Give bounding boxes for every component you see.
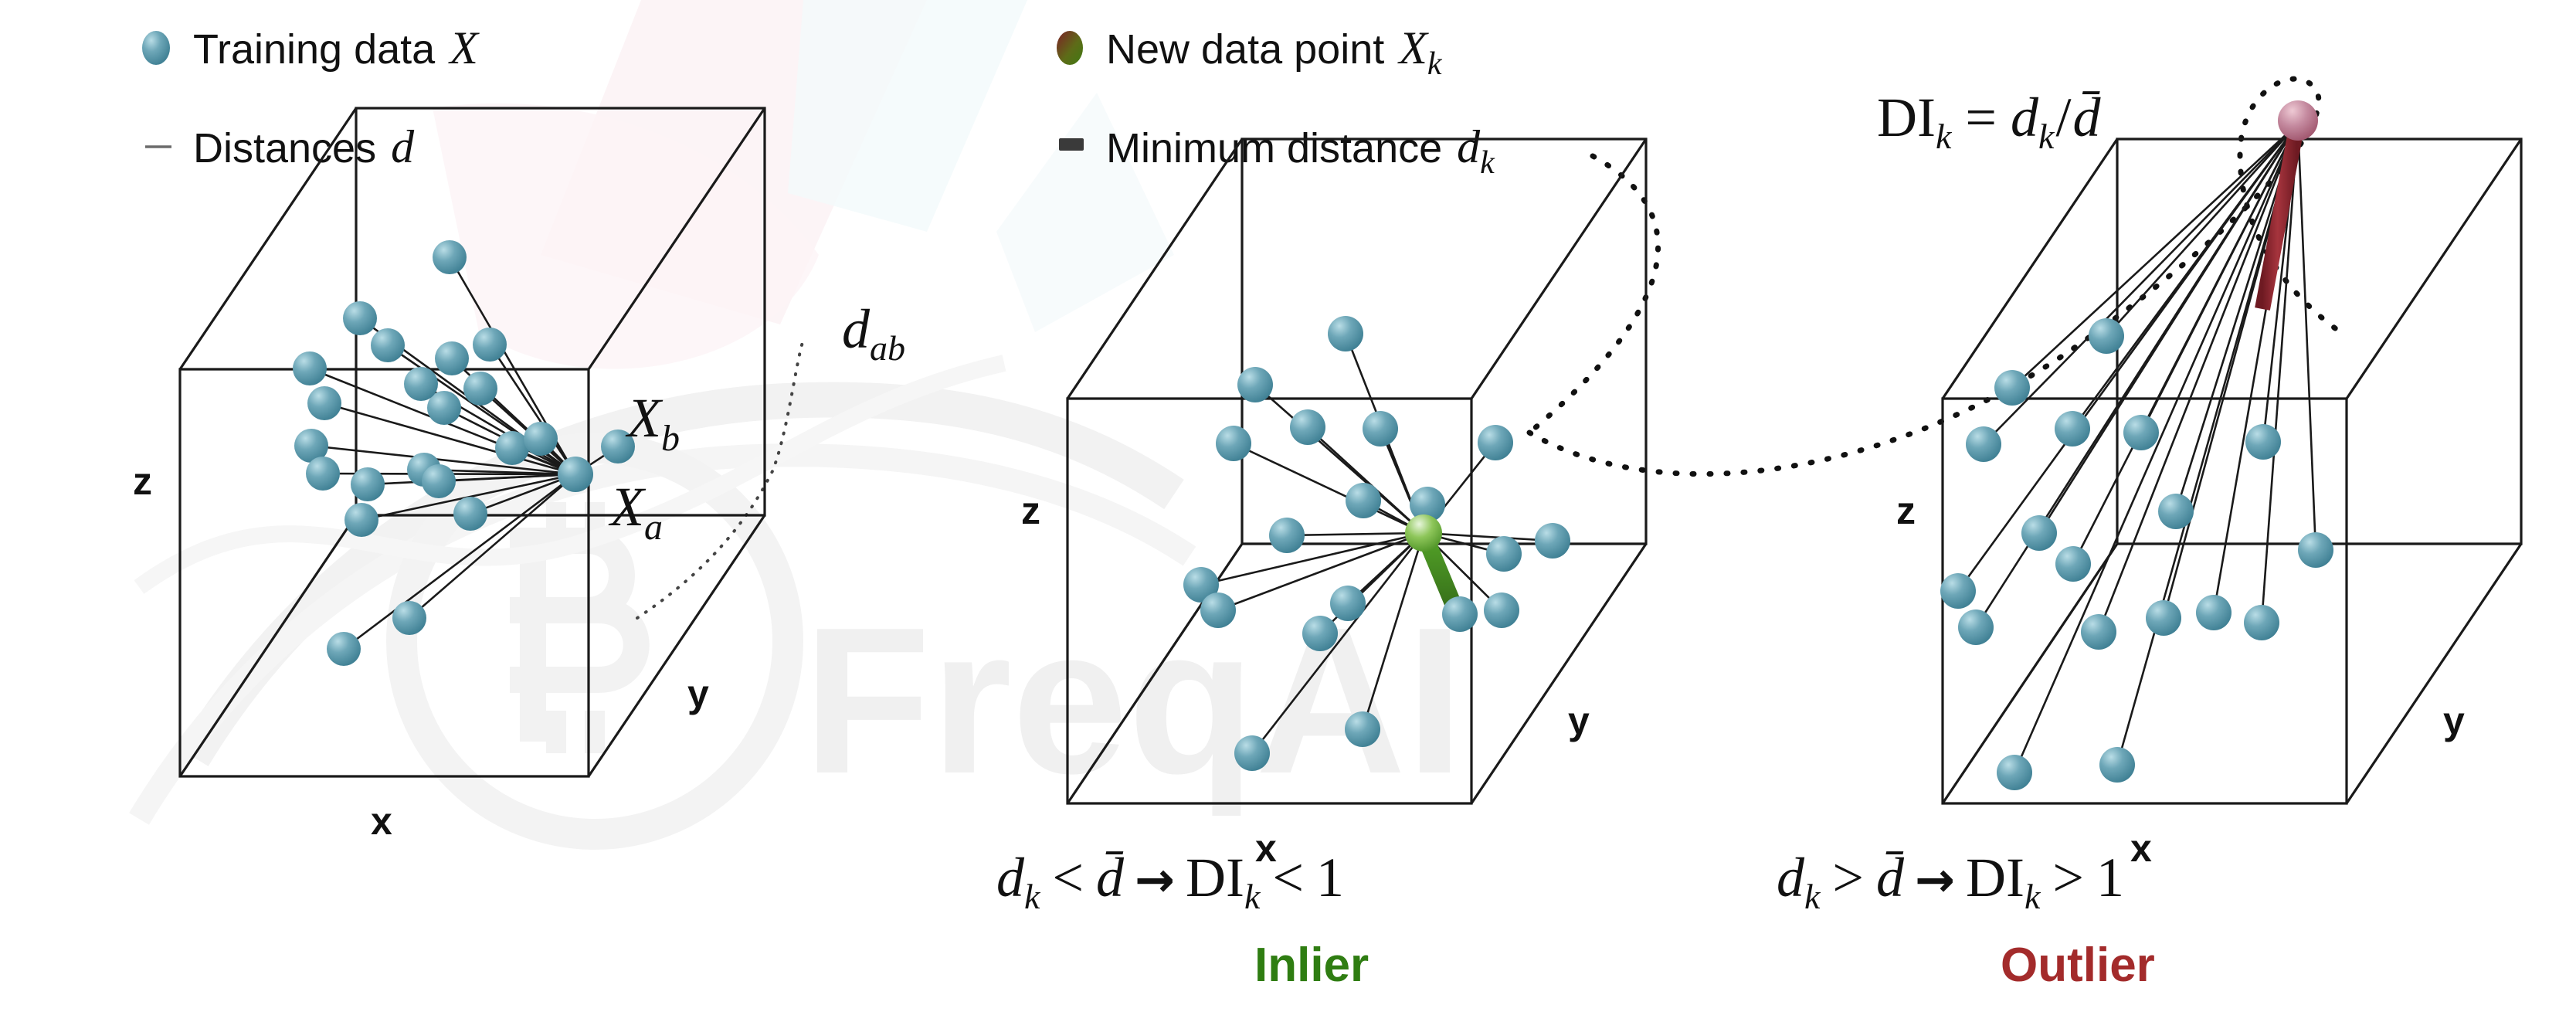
data-point <box>2089 318 2124 354</box>
data-point <box>433 240 467 274</box>
teal-sphere-icon <box>142 31 170 65</box>
cube-wireframe <box>1943 139 2521 803</box>
data-point <box>524 422 558 456</box>
data-point <box>1328 316 1363 351</box>
caption-inlier-block: dk<d̄→DIk<1 Inlier <box>996 847 1369 992</box>
data-point <box>1302 616 1338 651</box>
legend-item-distances[interactable]: Distances d <box>145 121 415 172</box>
axis-label-z: z <box>133 460 152 503</box>
inlier-formula: dk<d̄→DIk<1 <box>996 847 1344 916</box>
data-point <box>2123 415 2159 450</box>
annotation-x-a: Xa <box>608 476 663 548</box>
nearest-neighbour-point <box>2245 424 2281 460</box>
data-point <box>392 601 426 635</box>
panel-outlier: z x y <box>1896 100 2521 870</box>
data-point <box>2021 515 2057 551</box>
legend-item-label: Distances d <box>193 121 415 172</box>
diagram-root: FreqAI Training data X Distances d <box>0 0 2576 1022</box>
data-point <box>1486 536 1522 572</box>
data-point <box>1997 755 2032 790</box>
data-point <box>2158 494 2194 529</box>
nearest-neighbour-point <box>1442 596 1478 632</box>
axis-label-x: x <box>371 800 392 843</box>
data-point <box>463 372 497 406</box>
data-point <box>1958 609 1994 645</box>
data-point <box>1345 711 1380 747</box>
data-point <box>1535 523 1570 559</box>
watermark-text: FreqAI <box>803 585 1464 818</box>
annotation-d-ab: dab <box>842 298 905 368</box>
data-point <box>453 497 487 531</box>
data-point <box>1994 370 2030 406</box>
data-point <box>1363 411 1398 446</box>
axis-label-z: z <box>1896 489 1916 532</box>
axis-label-y: y <box>1568 699 1590 742</box>
data-point <box>435 341 469 375</box>
new-data-point-inlier <box>1405 514 1442 552</box>
legend-item-new-data-point[interactable]: New data point Xk <box>1057 22 1443 82</box>
data-point <box>351 467 385 501</box>
data-point <box>2146 600 2181 636</box>
data-point <box>1200 592 1236 628</box>
data-point <box>2081 614 2116 650</box>
data-point <box>1478 425 1513 460</box>
axis-label-x: x <box>2130 827 2152 870</box>
red-green-sphere-icon <box>1057 31 1083 65</box>
data-point <box>306 457 340 491</box>
hub-point-xa <box>558 457 593 492</box>
di-definition-formula: DIk=dk/d̄ <box>1877 87 2101 156</box>
legend-item-training-data[interactable]: Training data X <box>142 22 480 73</box>
data-point <box>422 464 456 498</box>
outlier-formula: dk>d̄→DIk>1 <box>1777 847 2124 916</box>
diagram-canvas: FreqAI Training data X Distances d <box>0 0 2576 1022</box>
caption-inlier: Inlier <box>1254 939 1369 992</box>
data-point <box>2298 532 2333 568</box>
new-data-point-outlier <box>2278 100 2318 141</box>
data-point <box>1346 483 1381 518</box>
data-point <box>2055 411 2090 446</box>
data-point <box>293 351 327 385</box>
data-point <box>473 328 507 362</box>
legend-item-label: Training data X <box>193 22 480 73</box>
legend-item-label: Minimum distance dk <box>1106 121 1495 181</box>
data-point <box>1484 592 1519 628</box>
data-point <box>1940 573 1976 609</box>
data-point <box>327 632 361 666</box>
data-point <box>1290 409 1325 445</box>
data-point <box>1269 518 1305 553</box>
data-point <box>1330 586 1366 621</box>
data-point <box>2055 546 2091 582</box>
data-point <box>2244 605 2279 640</box>
data-point <box>404 367 438 401</box>
caption-outlier-block: dk>d̄→DIk>1 Outlier <box>1777 847 2155 992</box>
data-point <box>1966 426 2001 462</box>
data-point <box>371 328 405 362</box>
data-point <box>2196 595 2232 630</box>
axis-label-y: y <box>687 672 709 715</box>
data-point <box>1216 426 1251 461</box>
legend-item-label: New data point Xk <box>1106 22 1443 82</box>
axis-label-z: z <box>1021 489 1040 532</box>
data-point <box>307 386 341 420</box>
data-point <box>343 301 377 335</box>
data-point <box>1237 367 1273 402</box>
data-point <box>1234 735 1270 771</box>
leader-dk-to-outlier <box>1529 156 1658 433</box>
data-point <box>344 503 378 537</box>
data-point <box>2099 747 2135 783</box>
di-formula-text: DIk=dk/d̄ <box>1877 87 2101 156</box>
thick-dash-icon <box>1059 138 1084 151</box>
caption-outlier: Outlier <box>2001 939 2155 992</box>
axis-label-y: y <box>2443 699 2465 742</box>
